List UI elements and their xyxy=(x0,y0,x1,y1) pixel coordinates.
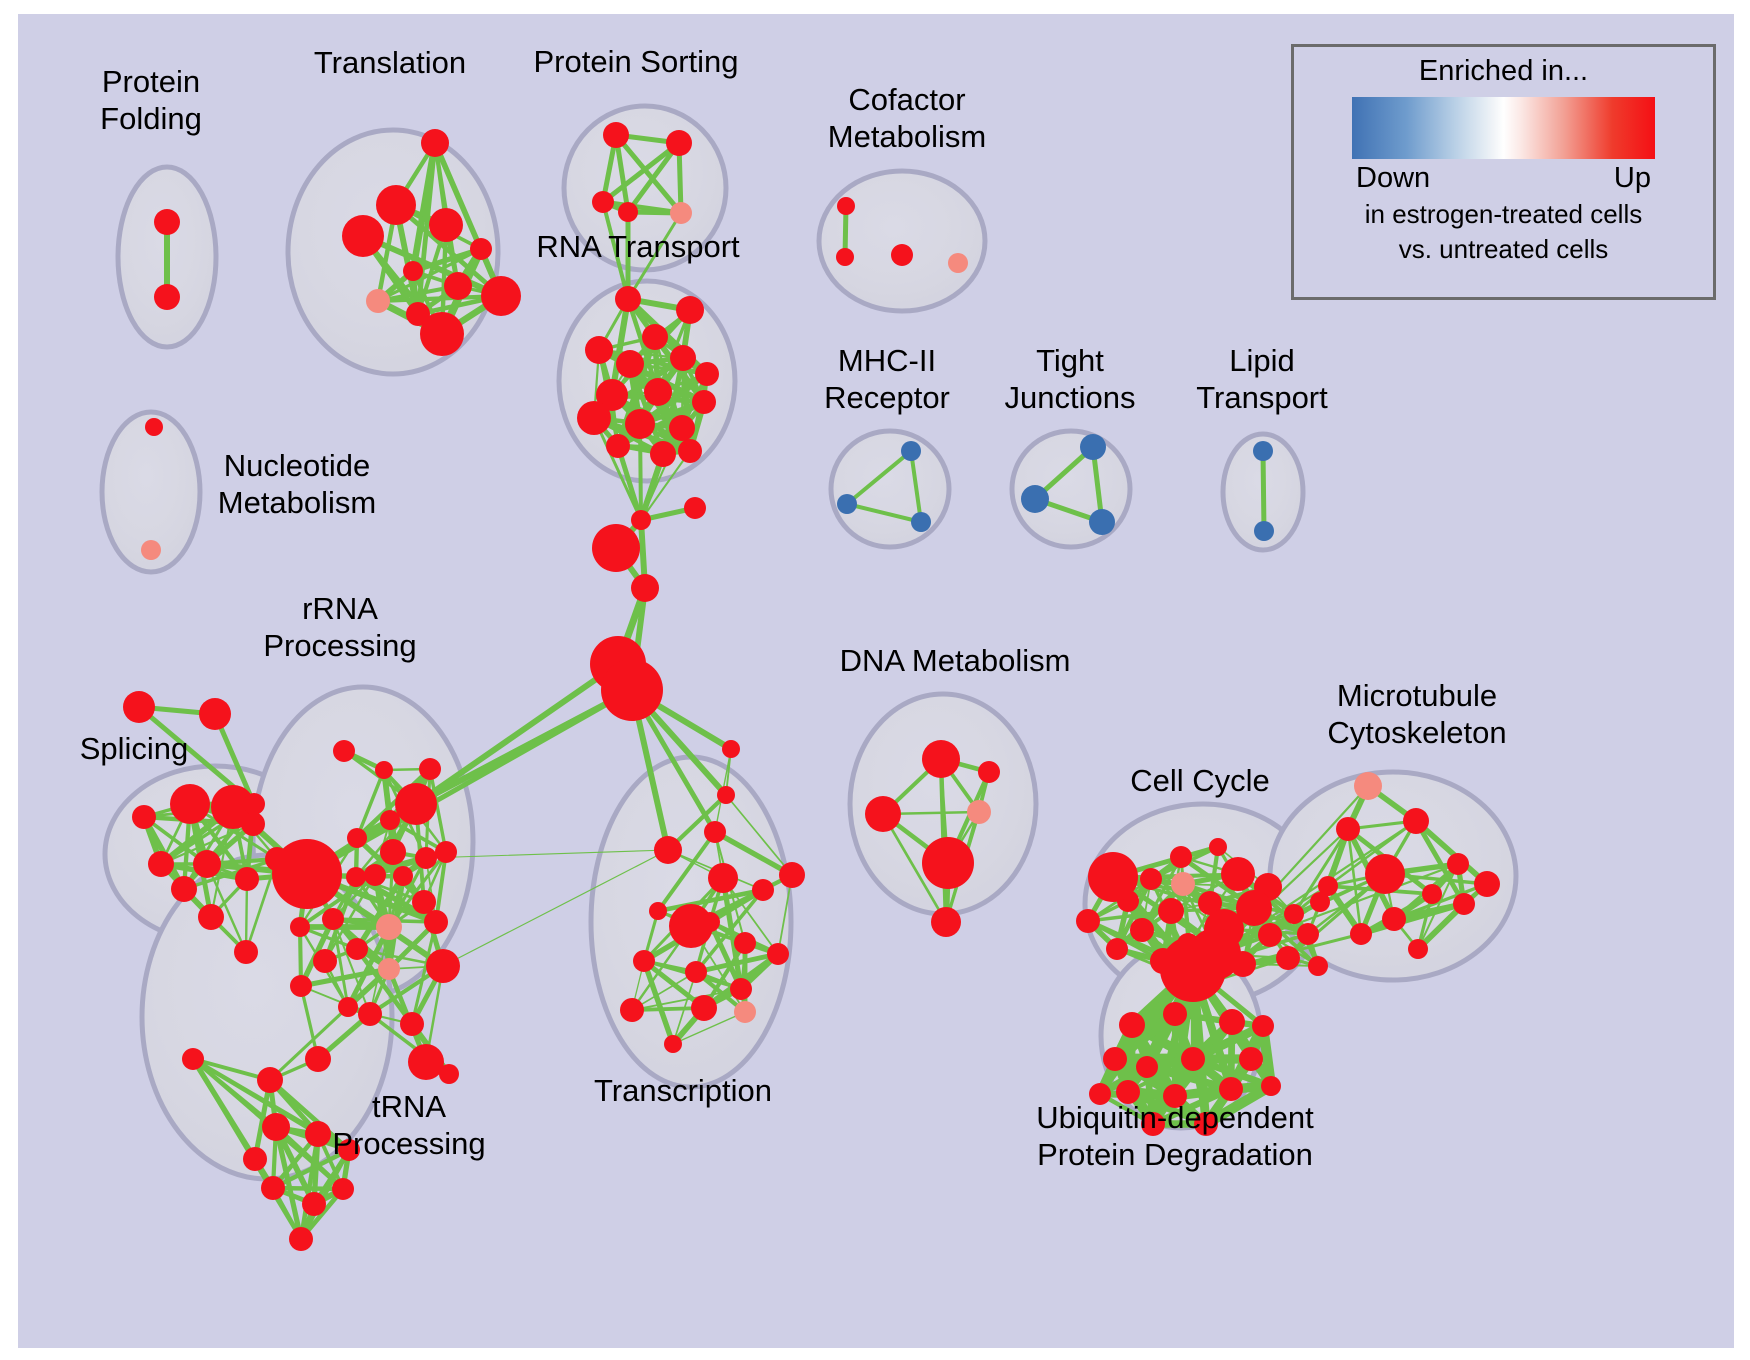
network-node xyxy=(606,434,630,458)
network-node xyxy=(620,998,644,1022)
network-node xyxy=(235,867,259,891)
network-node xyxy=(1140,868,1162,890)
network-node xyxy=(684,497,706,519)
legend-panel: Enriched in... Down Up in estrogen-treat… xyxy=(1291,44,1716,300)
network-node xyxy=(649,902,667,920)
network-node xyxy=(669,904,713,948)
cluster-label-transcription: Transcription xyxy=(594,1073,772,1108)
network-node xyxy=(1408,939,1428,959)
network-node xyxy=(1310,892,1330,912)
network-node xyxy=(631,574,659,602)
network-node xyxy=(836,248,854,266)
network-node xyxy=(426,949,460,983)
network-node xyxy=(364,864,386,886)
network-node xyxy=(633,950,655,972)
network-node xyxy=(1171,872,1195,896)
network-node xyxy=(199,698,231,730)
network-node xyxy=(1080,434,1106,460)
network-node xyxy=(1103,1047,1127,1071)
network-node xyxy=(305,1046,331,1072)
network-node xyxy=(376,914,402,940)
network-node xyxy=(322,908,344,930)
color-scale-bar xyxy=(1352,97,1655,159)
network-node xyxy=(644,378,672,406)
network-node xyxy=(403,261,423,281)
network-node xyxy=(1219,1009,1245,1035)
network-node xyxy=(148,851,174,877)
network-node xyxy=(767,943,789,965)
cluster-blob-mhc-ii-receptor xyxy=(831,431,949,547)
network-node xyxy=(901,441,921,461)
network-node xyxy=(375,761,393,779)
network-node xyxy=(978,761,1000,783)
network-node xyxy=(734,932,756,954)
network-node xyxy=(198,904,224,930)
cluster-label-cell-cycle: Cell Cycle xyxy=(1130,763,1270,798)
cluster-label-protein-sorting: Protein Sorting xyxy=(533,44,738,79)
network-node xyxy=(631,510,651,530)
network-node xyxy=(1089,509,1115,535)
network-node xyxy=(695,362,719,386)
network-node xyxy=(1261,1076,1281,1096)
network-node xyxy=(1365,854,1405,894)
network-node xyxy=(1253,441,1273,461)
network-node xyxy=(717,786,735,804)
network-node xyxy=(193,850,221,878)
network-node xyxy=(132,805,156,829)
network-node xyxy=(347,828,367,848)
network-node xyxy=(376,185,416,225)
network-node xyxy=(262,1113,290,1141)
network-node xyxy=(408,1044,444,1080)
network-node xyxy=(1158,898,1184,924)
network-node xyxy=(421,129,449,157)
network-node xyxy=(734,1001,756,1023)
network-node xyxy=(1308,956,1328,976)
network-node xyxy=(592,191,614,213)
network-node xyxy=(1088,852,1138,902)
network-node xyxy=(302,1192,326,1216)
network-node xyxy=(676,296,704,324)
network-node xyxy=(154,209,180,235)
network-node xyxy=(1336,817,1360,841)
network-node xyxy=(1447,853,1469,875)
network-node xyxy=(708,863,738,893)
network-node xyxy=(1258,923,1282,947)
network-node xyxy=(342,215,384,257)
cluster-label-dna-metabolism: DNA Metabolism xyxy=(840,643,1071,678)
network-node xyxy=(243,1147,267,1171)
network-node xyxy=(420,312,464,356)
network-node xyxy=(419,758,441,780)
cluster-label-protein-folding: ProteinFolding xyxy=(100,64,202,136)
network-node xyxy=(412,890,436,914)
network-node xyxy=(395,783,437,825)
network-node xyxy=(243,793,265,815)
network-node xyxy=(1076,909,1100,933)
network-node xyxy=(1119,1012,1145,1038)
network-node xyxy=(691,995,717,1021)
network-node xyxy=(1453,893,1475,915)
network-node xyxy=(1181,1047,1205,1071)
network-node xyxy=(1276,946,1300,970)
network-node xyxy=(141,540,161,560)
network-node xyxy=(1239,1047,1263,1071)
network-node xyxy=(145,418,163,436)
network-node xyxy=(170,784,210,824)
network-node xyxy=(1354,772,1382,800)
cluster-label-tight-junctions: TightJunctions xyxy=(1005,343,1136,415)
network-node xyxy=(400,1012,424,1036)
network-node xyxy=(272,839,342,909)
network-node xyxy=(358,1002,382,1026)
network-edge xyxy=(416,664,618,804)
network-node xyxy=(366,289,390,313)
network-node xyxy=(1254,521,1274,541)
network-node xyxy=(1221,857,1255,891)
network-node xyxy=(730,978,752,1000)
network-node xyxy=(618,202,638,222)
network-node xyxy=(415,847,437,869)
network-node xyxy=(670,345,696,371)
network-node xyxy=(1209,838,1227,856)
network-node xyxy=(234,940,258,964)
network-node xyxy=(1350,923,1372,945)
cluster-label-translation: Translation xyxy=(314,45,466,80)
network-node xyxy=(154,284,180,310)
cluster-label-lipid-transport: LipidTransport xyxy=(1196,343,1328,415)
network-node xyxy=(123,691,155,723)
network-node xyxy=(290,917,310,937)
network-edge xyxy=(1263,451,1264,531)
network-node xyxy=(1422,884,1442,904)
legend-title: Enriched in... xyxy=(1294,55,1713,88)
network-node xyxy=(666,130,692,156)
cluster-label-rna-transport: RNA Transport xyxy=(536,229,740,264)
network-node xyxy=(616,350,644,378)
network-node xyxy=(435,841,457,863)
network-node xyxy=(444,272,472,300)
network-node xyxy=(332,1178,354,1200)
network-node xyxy=(654,836,682,864)
cluster-label-mhc-ii-receptor: MHC-IIReceptor xyxy=(824,343,950,415)
legend-high-label: Up xyxy=(1614,162,1651,195)
network-node xyxy=(911,512,931,532)
network-node xyxy=(577,401,611,435)
network-node xyxy=(338,997,358,1017)
network-node xyxy=(678,439,702,463)
network-node xyxy=(670,202,692,224)
network-node xyxy=(380,839,406,865)
cluster-label-splicing: Splicing xyxy=(80,731,189,766)
network-node xyxy=(261,1176,285,1200)
network-node xyxy=(378,958,400,980)
network-node xyxy=(779,862,805,888)
network-node xyxy=(429,208,463,242)
network-node xyxy=(439,1064,459,1084)
network-node xyxy=(865,796,901,832)
cluster-label-microtubule-cytoskeleton: MicrotubuleCytoskeleton xyxy=(1327,678,1506,750)
cluster-label-ubiquitin-protein-degradation: Ubiquitin-dependentProtein Degradation xyxy=(1036,1100,1314,1172)
network-node xyxy=(931,907,961,937)
network-node xyxy=(1189,928,1241,980)
network-node xyxy=(685,961,707,983)
network-node xyxy=(1403,808,1429,834)
network-node xyxy=(837,197,855,215)
figure-canvas: ProteinFoldingTranslationProtein Sorting… xyxy=(0,0,1750,1360)
network-node xyxy=(182,1048,204,1070)
network-node xyxy=(1382,907,1406,931)
network-node xyxy=(313,949,337,973)
network-node xyxy=(669,415,695,441)
network-node xyxy=(615,286,641,312)
network-node xyxy=(650,441,676,467)
network-node xyxy=(692,390,716,414)
network-node xyxy=(1170,846,1192,868)
network-node xyxy=(664,1035,682,1053)
network-node xyxy=(922,740,960,778)
network-node xyxy=(1136,1056,1158,1078)
network-node xyxy=(1106,938,1128,960)
legend-low-label: Down xyxy=(1356,162,1430,195)
network-node xyxy=(704,821,726,843)
network-node xyxy=(601,659,663,721)
network-node xyxy=(305,1121,331,1147)
cluster-label-rrna-processing: rRNAProcessing xyxy=(263,591,416,663)
legend-caption-line1: in estrogen-treated cells xyxy=(1294,199,1713,230)
network-node xyxy=(393,866,413,886)
cluster-label-nucleotide-metabolism: NucleotideMetabolism xyxy=(218,448,377,520)
network-node xyxy=(1297,923,1319,945)
network-node xyxy=(257,1067,283,1093)
network-node xyxy=(1219,1077,1243,1101)
network-node xyxy=(481,276,521,316)
network-node xyxy=(470,238,492,260)
network-node xyxy=(625,409,655,439)
network-node xyxy=(837,494,857,514)
legend-caption-line2: vs. untreated cells xyxy=(1294,234,1713,265)
network-node xyxy=(289,1227,313,1251)
network-node xyxy=(592,524,640,572)
network-node xyxy=(642,324,668,350)
network-node xyxy=(1474,871,1500,897)
network-node xyxy=(1284,904,1304,924)
network-node xyxy=(171,876,197,902)
network-node xyxy=(922,837,974,889)
network-node xyxy=(752,879,774,901)
network-node xyxy=(346,938,368,960)
network-node xyxy=(967,800,991,824)
network-node xyxy=(603,122,629,148)
network-node xyxy=(948,253,968,273)
network-node xyxy=(1021,485,1049,513)
network-node xyxy=(722,740,740,758)
network-node xyxy=(346,867,366,887)
network-node xyxy=(333,740,355,762)
network-node xyxy=(891,244,913,266)
network-node xyxy=(424,910,448,934)
network-node xyxy=(585,336,613,364)
cluster-label-cofactor-metabolism: CofactorMetabolism xyxy=(828,82,987,154)
network-node xyxy=(1163,1002,1187,1026)
network-node xyxy=(380,810,400,830)
network-node xyxy=(1252,1015,1274,1037)
network-node xyxy=(290,975,312,997)
network-node xyxy=(1130,918,1154,942)
